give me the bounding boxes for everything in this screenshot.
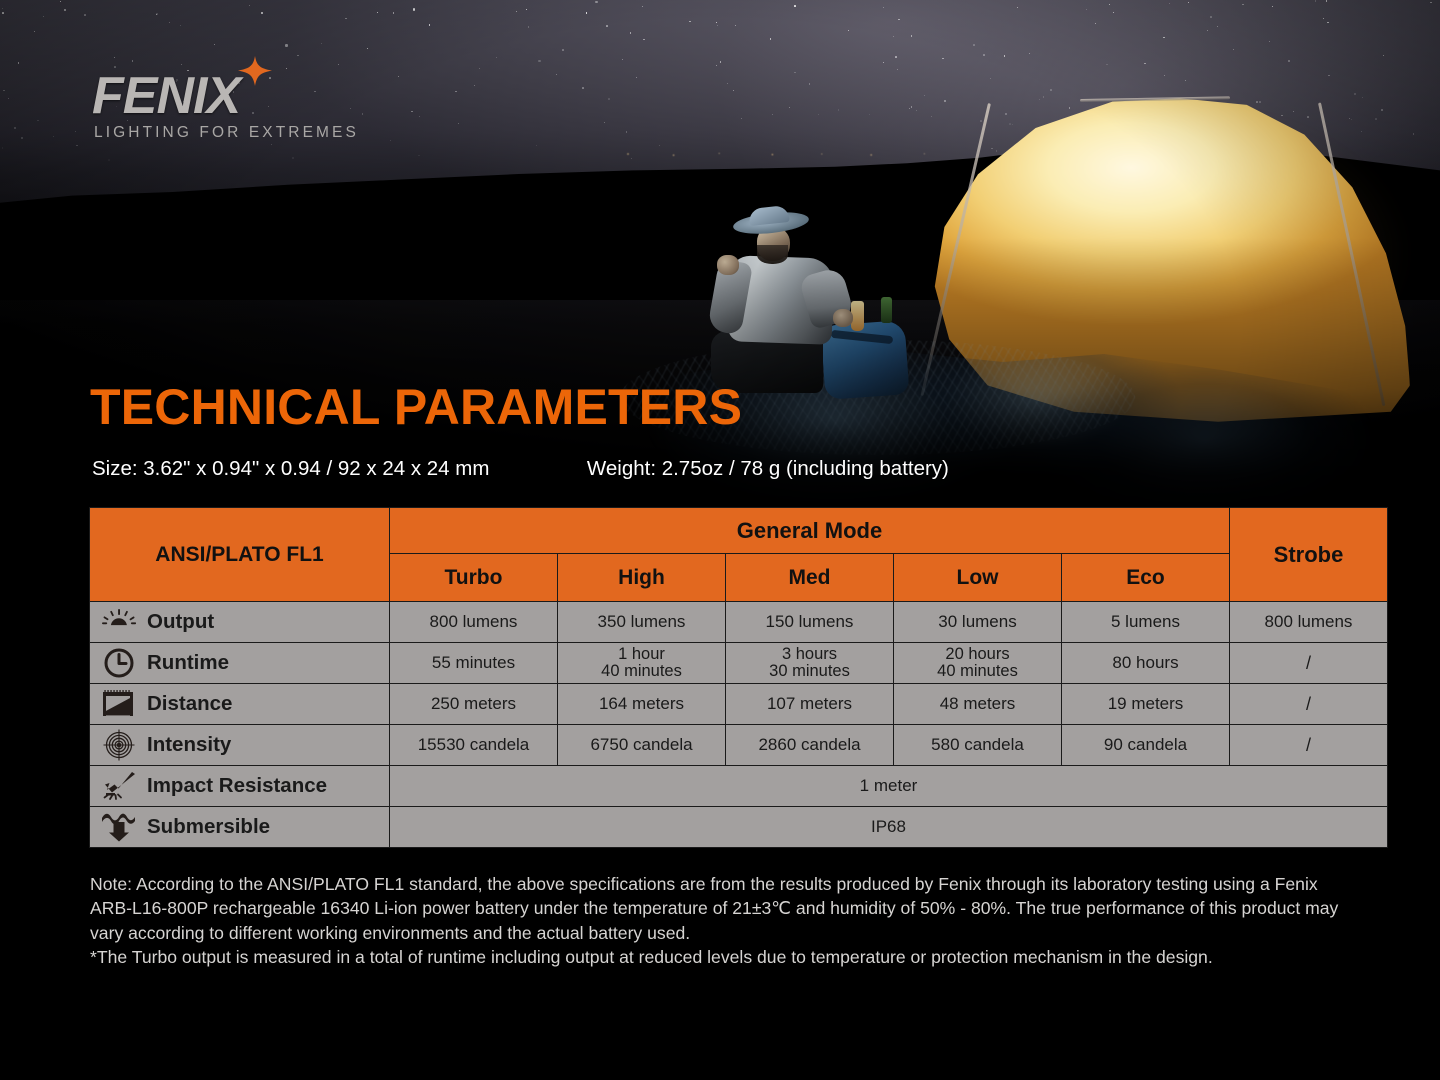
row-label-output: Output [90, 602, 390, 643]
cell-intensity-low: 580 candela [894, 725, 1062, 766]
weight-spec: Weight: 2.75oz / 78 g (including battery… [587, 457, 949, 481]
table-row: Distance250 meters164 meters107 meters48… [90, 684, 1388, 725]
cell-intensity-eco: 90 candela [1062, 725, 1230, 766]
cell-submersible-value: IP68 [390, 807, 1388, 848]
header-mode-turbo: Turbo [390, 554, 558, 602]
footnote: Note: According to the ANSI/PLATO FL1 st… [90, 872, 1360, 969]
target-intensity-icon [100, 730, 138, 760]
spec-summary-line: Size: 3.62" x 0.94" x 0.94 / 92 x 24 x 2… [92, 457, 1362, 481]
table-row: Impact Resistance1 meter [90, 766, 1388, 807]
row-label-text: Distance [147, 692, 232, 716]
row-label-runtime: Runtime [90, 643, 390, 684]
table-row: SubmersibleIP68 [90, 807, 1388, 848]
technical-parameters-table: ANSI/PLATO FL1 General Mode Strobe Turbo… [89, 507, 1351, 848]
size-spec: Size: 3.62" x 0.94" x 0.94 / 92 x 24 x 2… [92, 457, 489, 481]
row-label-text: Runtime [147, 651, 229, 675]
row-label-intensity: Intensity [90, 725, 390, 766]
cell-intensity-turbo: 15530 candela [390, 725, 558, 766]
header-general-mode: General Mode [390, 508, 1230, 554]
cell-distance-strobe: / [1230, 684, 1388, 725]
brand-tagline: LIGHTING FOR EXTREMES [94, 124, 359, 142]
beam-distance-icon [100, 689, 138, 719]
cell-output-strobe: 800 lumens [1230, 602, 1388, 643]
cell-distance-eco: 19 meters [1062, 684, 1230, 725]
camper-beard [757, 245, 788, 264]
table-header: ANSI/PLATO FL1 General Mode Strobe Turbo… [90, 508, 1388, 602]
cell-impact-resistance-value: 1 meter [390, 766, 1388, 807]
row-label-text: Intensity [147, 733, 231, 757]
cell-distance-turbo: 250 meters [390, 684, 558, 725]
header-mode-eco: Eco [1062, 554, 1230, 602]
cell-distance-low: 48 meters [894, 684, 1062, 725]
fenix-logo: FENIX LIGHTING FOR EXTREMES [92, 72, 359, 142]
cell-runtime-high: 1 hour40 minutes [558, 643, 726, 684]
cell-runtime-low: 20 hours40 minutes [894, 643, 1062, 684]
header-strobe: Strobe [1230, 508, 1388, 602]
camper-person [705, 205, 915, 395]
row-label-distance: Distance [90, 684, 390, 725]
camper-right-hand [833, 309, 853, 327]
bottle-green [881, 297, 892, 323]
cell-intensity-high: 6750 candela [558, 725, 726, 766]
row-label-text: Output [147, 610, 214, 634]
row-label-submersible: Submersible [90, 807, 390, 848]
cell-output-med: 150 lumens [726, 602, 894, 643]
table-row: Output800 lumens350 lumens150 lumens30 l… [90, 602, 1388, 643]
star-icon [238, 56, 272, 90]
cell-runtime-eco: 80 hours [1062, 643, 1230, 684]
table-row: Intensity15530 candela6750 candela2860 c… [90, 725, 1388, 766]
cell-runtime-med: 3 hours30 minutes [726, 643, 894, 684]
cell-intensity-med: 2860 candela [726, 725, 894, 766]
cell-output-turbo: 800 lumens [390, 602, 558, 643]
brand-name: FENIX [92, 72, 359, 121]
cell-output-eco: 5 lumens [1062, 602, 1230, 643]
clock-icon [100, 648, 138, 678]
cell-distance-high: 164 meters [558, 684, 726, 725]
row-label-impact-resistance: Impact Resistance [90, 766, 390, 807]
footnote-paragraph-1: Note: According to the ANSI/PLATO FL1 st… [90, 872, 1360, 945]
cell-output-low: 30 lumens [894, 602, 1062, 643]
page-title: TECHNICAL PARAMETERS [90, 378, 742, 436]
cell-runtime-turbo: 55 minutes [390, 643, 558, 684]
header-ansi-plato: ANSI/PLATO FL1 [90, 508, 390, 602]
row-label-text: Impact Resistance [147, 774, 327, 798]
table-body: Output800 lumens350 lumens150 lumens30 l… [90, 602, 1388, 848]
sunburst-icon [100, 607, 138, 637]
cell-distance-med: 107 meters [726, 684, 894, 725]
cell-runtime-strobe: / [1230, 643, 1388, 684]
cell-intensity-strobe: / [1230, 725, 1388, 766]
submersible-icon [100, 812, 138, 842]
header-mode-low: Low [894, 554, 1062, 602]
table-row: Runtime55 minutes1 hour40 minutes3 hours… [90, 643, 1388, 684]
camper-left-hand [717, 255, 739, 275]
cell-output-high: 350 lumens [558, 602, 726, 643]
impact-resistance-icon [100, 771, 138, 801]
row-label-text: Submersible [147, 815, 270, 839]
header-mode-high: High [558, 554, 726, 602]
footnote-paragraph-2: *The Turbo output is measured in a total… [90, 945, 1360, 969]
header-mode-med: Med [726, 554, 894, 602]
